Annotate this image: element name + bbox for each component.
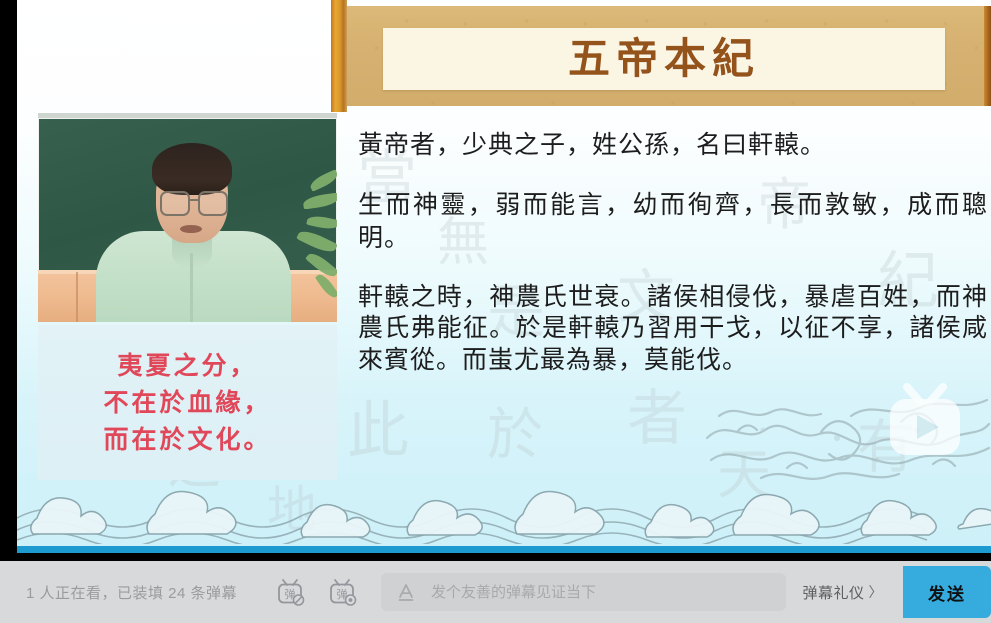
cabinet-divider	[76, 272, 78, 322]
danmaku-block-icon[interactable]: 弹	[273, 575, 307, 609]
slide-title-banner: 五帝本紀	[331, 6, 991, 106]
chevron-right-icon: 〉	[869, 582, 884, 602]
glasses-left-lens-icon	[160, 191, 190, 216]
bilibili-logo-watermark	[881, 383, 969, 461]
danmaku-input-wrapper[interactable]	[381, 573, 786, 611]
title-plate: 五帝本紀	[383, 28, 945, 90]
send-button[interactable]: 发送	[903, 566, 991, 618]
glasses-right-lens-icon	[198, 191, 228, 216]
bg-calligraphy-glyph: 者	[627, 370, 687, 457]
slide-content: 書 古 當 是 此 於 者 文 帝 紀 之 有 無 天 地 五帝本紀	[17, 0, 991, 553]
bg-calligraphy-glyph: 於	[487, 390, 543, 471]
slide-paragraph: 黃帝者，少典之子，姓公孫，名曰軒轅。	[358, 128, 988, 162]
scroll-rod-left-icon	[331, 0, 347, 112]
slide-paragraph: 軒轅之時，神農氏世衰。諸侯相侵伐，暴虐百姓，而神農氏弗能征。於是軒轅乃習用干戈，…	[358, 281, 988, 376]
caption-line: 夷夏之分，	[117, 353, 257, 378]
video-player-page: 書 古 當 是 此 於 者 文 帝 紀 之 有 無 天 地 五帝本紀	[0, 0, 991, 623]
speaker-placket	[190, 253, 193, 322]
video-progress-bar[interactable]	[17, 546, 991, 553]
slide-caption-panel: 夷夏之分， 不在於血緣， 而在於文化。	[38, 325, 337, 480]
glasses-bridge-icon	[188, 199, 198, 201]
danmaku-etiquette-label: 弹幕礼仪	[802, 582, 864, 603]
speaker-inset-video	[38, 113, 337, 322]
slide-title: 五帝本紀	[568, 38, 760, 80]
scroll-rod-right-icon	[984, 6, 991, 106]
danmaku-settings-icon[interactable]: 弹	[325, 575, 359, 609]
video-stage[interactable]: 書 古 當 是 此 於 者 文 帝 紀 之 有 無 天 地 五帝本紀	[0, 0, 991, 561]
bg-calligraphy-glyph: 此	[347, 380, 409, 470]
speaker-hair	[152, 143, 232, 195]
font-style-icon[interactable]	[395, 581, 417, 603]
wave-decoration	[17, 472, 991, 544]
slide-paragraph: 生而神靈，弱而能言，幼而徇齊，長而敦敏，成而聰明。	[358, 188, 988, 255]
plant-icon	[283, 173, 337, 322]
danmaku-input[interactable]	[429, 583, 772, 602]
slide-body-text: 黃帝者，少典之子，姓公孫，名曰軒轅。 生而神靈，弱而能言，幼而徇齊，長而敦敏，成…	[358, 128, 988, 375]
caption-line: 不在於血緣，	[103, 390, 271, 415]
caption-line: 而在於文化。	[103, 427, 271, 452]
danmaku-etiquette-link[interactable]: 弹幕礼仪 〉	[802, 582, 883, 603]
danmaku-bar: 1 人正在看，已装填 24 条弹幕 弹 弹 弹幕礼仪 〉 发送	[0, 561, 991, 623]
viewer-stats-label: 1 人正在看，已装填 24 条弹幕	[26, 582, 237, 603]
speaker-mouth	[180, 225, 202, 233]
